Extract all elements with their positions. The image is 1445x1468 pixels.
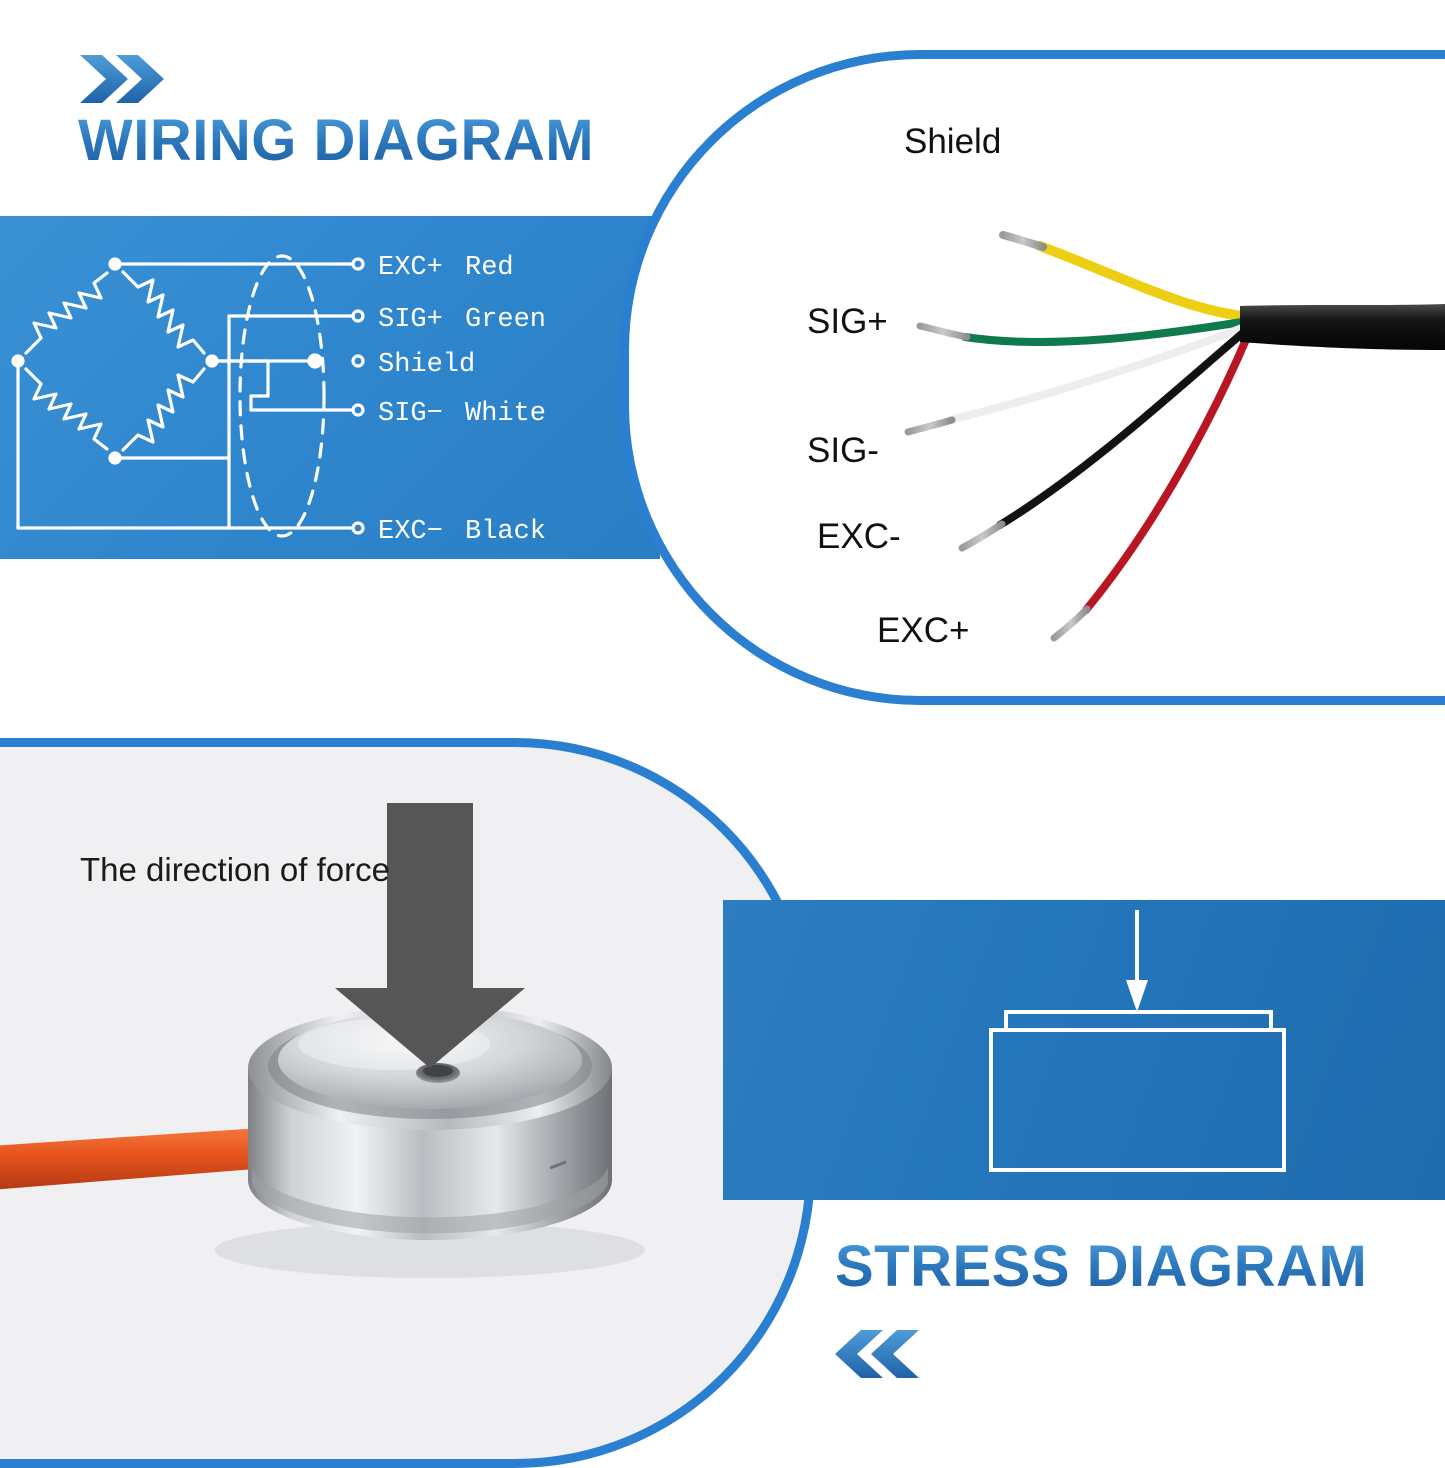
- page-title-wiring: WIRING DIAGRAM: [78, 112, 594, 170]
- terminal-signal-4: EXC−: [378, 517, 443, 547]
- wire-sig-minus-tip: [908, 420, 952, 432]
- load-cell-photo-panel: The direction of force: [0, 738, 815, 1468]
- wire-photo-panel: Shield SIG+ SIG- EXC- EXC+: [620, 50, 1445, 705]
- stress-heading-block: STRESS DIAGRAM: [723, 1200, 1445, 1445]
- trace-exc-minus: [18, 361, 353, 528]
- wiring-schematic: EXC+ Red SIG+ Green Shield SIG− White EX…: [0, 216, 660, 559]
- terminal-signal-3: SIG−: [378, 399, 443, 429]
- wiring-schematic-panel: EXC+ Red SIG+ Green Shield SIG− White EX…: [0, 216, 660, 559]
- page-title-stress: STRESS DIAGRAM: [835, 1238, 1367, 1296]
- center-hole-bore: [423, 1065, 453, 1077]
- wire-fanout-illustration: [620, 50, 1445, 705]
- wire-shield-yellow: [1040, 246, 1242, 316]
- stress-arrow-head: [1126, 980, 1148, 1012]
- wire-label-shield: Shield: [904, 122, 1001, 162]
- wire-sig-plus-green: [965, 322, 1242, 342]
- stress-body-block: [991, 1030, 1284, 1170]
- stress-top-plate: [1006, 1012, 1271, 1030]
- terminal-shield: [353, 356, 363, 366]
- terminal-exc-minus: [353, 523, 363, 533]
- wire-label-sig-minus: SIG-: [807, 431, 879, 471]
- terminal-signal-1: SIG+: [378, 305, 443, 335]
- wheatstone-bridge: [26, 272, 204, 450]
- terminal-color-1: Green: [465, 305, 546, 335]
- terminal-sig-plus: [353, 311, 363, 321]
- wire-label-sig-plus: SIG+: [807, 302, 888, 342]
- double-chevron-left-icon: [833, 1330, 919, 1378]
- force-direction-label: The direction of force: [80, 851, 390, 889]
- wire-label-exc-minus: EXC-: [817, 517, 901, 557]
- wire-label-exc-plus: EXC+: [877, 611, 969, 651]
- terminal-exc-plus: [353, 259, 363, 269]
- terminal-signal-0: EXC+: [378, 253, 443, 283]
- wire-exc-plus-tip: [1054, 609, 1087, 638]
- terminal-color-4: Black: [465, 517, 546, 547]
- terminal-color-3: White: [465, 399, 546, 429]
- double-chevron-right-icon: [80, 55, 166, 103]
- stress-diagram-panel: [723, 900, 1445, 1200]
- terminal-color-0: Red: [465, 253, 514, 283]
- wiring-heading-block: WIRING DIAGRAM: [0, 0, 660, 215]
- cable-sheath: [1240, 304, 1445, 350]
- wire-sig-plus-tip: [920, 326, 967, 337]
- stress-diagram: [723, 900, 1445, 1200]
- wire-exc-minus-tip: [962, 524, 1002, 548]
- shield-junction-dot: [309, 355, 321, 367]
- load-cell-illustration: [0, 738, 815, 1468]
- terminal-signal-2: Shield: [378, 350, 475, 380]
- wire-shield-tip: [1003, 235, 1043, 247]
- terminal-sig-minus: [353, 405, 363, 415]
